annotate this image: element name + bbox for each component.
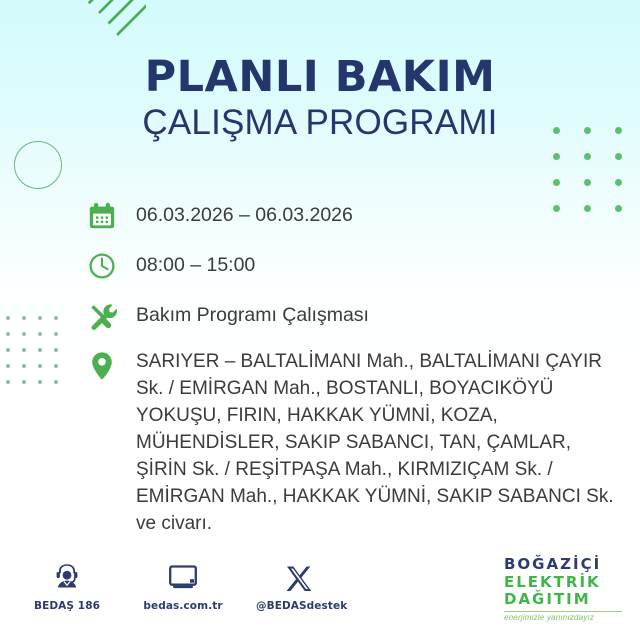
poster-header: PLANLI BAKIM ÇALIŞMA PROGRAMI [0,56,640,143]
contact-x-account[interactable]: @BEDASdestek [256,558,342,612]
location-pin-icon [86,348,118,382]
contact-channels: BEDAŞ 186 bedas.com.tr [24,558,342,612]
work-type-value: Bakım Programı Çalışması [136,300,369,326]
logo-divider [504,611,622,612]
contact-website-label: bedas.com.tr [140,600,226,612]
bedas-logo: BOĞAZİÇİ ELEKTRİK DAĞITIM enerjimizle ya… [504,556,628,622]
logo-line-bogazici: BOĞAZİÇİ [504,556,628,574]
outage-details: 06.03.2026 – 06.03.2026 08:00 – 15:00 [86,200,626,552]
detail-row-time: 08:00 – 15:00 [86,250,626,282]
clock-icon [86,250,118,282]
page-title: PLANLI BAKIM [0,56,640,100]
contact-phone[interactable]: BEDAŞ 186 [24,558,110,612]
logo-tagline: enerjimizle yanınızdayız [504,613,628,622]
contact-x-label: @BEDASdestek [256,600,342,612]
logo-line-elektrik: ELEKTRİK [504,574,628,592]
logo-line-dagitim: DAĞITIM [504,591,628,609]
support-agent-icon [24,558,110,594]
poster-footer: BEDAŞ 186 bedas.com.tr [0,550,640,630]
circle-outline-decoration [14,141,62,189]
contact-website[interactable]: bedas.com.tr [140,558,226,612]
time-range-value: 08:00 – 15:00 [136,250,255,276]
poster-canvas: PLANLI BAKIM ÇALIŞMA PROGRAMI [0,0,640,640]
date-range-value: 06.03.2026 – 06.03.2026 [136,200,353,226]
x-twitter-icon [256,558,342,594]
detail-row-location: SARIYER – BALTALİMANI Mah., BALTALİMANI … [86,348,626,538]
tools-icon [86,300,118,332]
detail-row-work-type: Bakım Programı Çalışması [86,300,626,332]
dot-grid-left-decoration [6,316,70,396]
location-value: SARIYER – BALTALİMANI Mah., BALTALİMANI … [136,348,626,538]
contact-phone-label: BEDAŞ 186 [24,600,110,612]
monitor-icon [140,558,226,594]
calendar-icon [86,200,118,232]
page-subtitle: ÇALIŞMA PROGRAMI [0,102,640,143]
detail-row-date: 06.03.2026 – 06.03.2026 [86,200,626,232]
